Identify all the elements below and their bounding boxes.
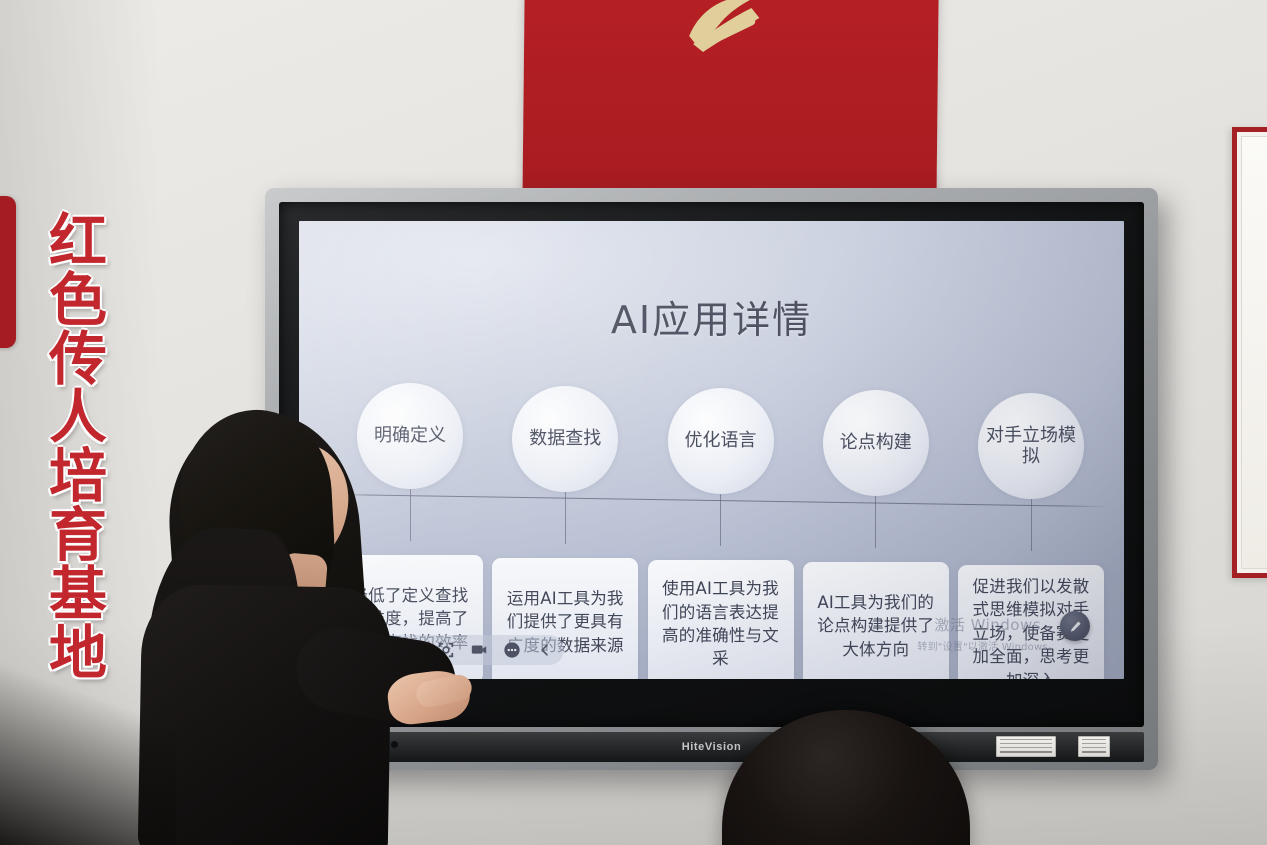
step-connector-line	[720, 494, 721, 546]
collapse-toolbar-button[interactable]	[535, 641, 554, 660]
slide-title: AI应用详情	[299, 289, 1124, 344]
step-detail-text: AI工具为我们的论点构建提供了大体方向	[812, 591, 940, 661]
step-bubble-label: 优化语言	[668, 388, 774, 494]
step-detail-text: 使用AI工具为我们的语言表达提高的准确性与文采	[657, 577, 785, 671]
step-detail-card: 使用AI工具为我们的语言表达提高的准确性与文采	[648, 560, 794, 679]
whiteboard-spec-sticker	[996, 736, 1056, 757]
pen-cursor-badge[interactable]	[1060, 611, 1090, 641]
pen-icon	[1068, 619, 1083, 634]
wall-sign-char: 红	[49, 213, 107, 270]
wall-sign-char: 传	[49, 331, 107, 388]
process-step[interactable]: 优化语言 使用AI工具为我们的语言表达提高的准确性与文采	[646, 388, 796, 679]
cpc-hammer-sickle-emblem	[671, 0, 792, 62]
ellipsis-circle-icon	[503, 641, 521, 659]
step-connector-line	[875, 496, 876, 548]
foreground-shadow	[0, 655, 176, 845]
process-step[interactable]: 论点构建 AI工具为我们的论点构建提供了大体方向	[801, 390, 951, 679]
wall-sign-char: 基	[49, 566, 107, 623]
step-connector-line	[1031, 499, 1032, 551]
wall-sign-char: 育	[49, 507, 107, 564]
step-bubble-label: 数据查找	[512, 386, 618, 492]
framed-poster-inner	[1241, 136, 1267, 569]
wall-sign-char: 色	[49, 272, 107, 329]
step-bubble-label: 对手立场模拟	[978, 393, 1084, 499]
wall-sign-char: 人	[49, 389, 107, 446]
whiteboard-brand-label: HiteVision	[682, 741, 742, 753]
classroom-presentation-photo: 红 色 传 人 培 育 基 地 AI应用详情 明确定义 降低了定义查找的	[0, 0, 1267, 845]
chevron-left-icon	[537, 642, 553, 658]
step-bubble-label: 论点构建	[823, 390, 929, 496]
whiteboard-barcode-sticker	[1078, 736, 1110, 757]
wall-red-decor-shape	[0, 196, 16, 348]
step-connector-line	[565, 492, 566, 544]
framed-poster	[1232, 127, 1267, 578]
red-banner	[523, 0, 940, 192]
wall-sign-title: 红 色 传 人 培 育 基 地	[41, 213, 115, 682]
step-detail-card: AI工具为我们的论点构建提供了大体方向	[803, 562, 949, 679]
more-options-button[interactable]	[502, 641, 521, 660]
wall-sign-char: 培	[49, 448, 107, 505]
